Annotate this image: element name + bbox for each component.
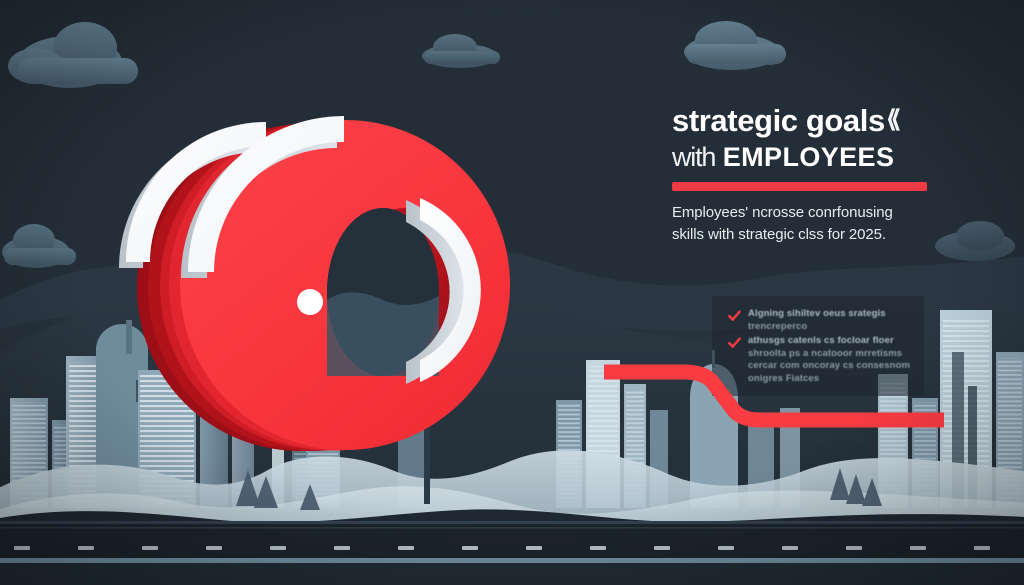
bullet-2-line-2: shroolta ps a ncatooor mrretisms	[748, 348, 910, 361]
bullet-1-line-2: trencreperco	[748, 321, 886, 334]
vignette	[0, 0, 1024, 585]
road-layer	[0, 0, 1024, 585]
bullet-2-line-1: athusgs catenls cs focloar floer	[748, 335, 894, 346]
headline-block: strategic goals⟪ with EMPLOYEES Employee…	[672, 104, 940, 246]
headline-subtitle: with EMPLOYEES	[672, 142, 940, 173]
list-item: Algning sihiltev oeus srategis trencrepe…	[728, 308, 918, 333]
chevron-up-arrow-icon: ⟪	[886, 103, 901, 137]
subcopy-line-1: Employees' ncrosse conrfonusing	[672, 202, 940, 224]
checkmark-icon	[728, 310, 741, 323]
page-title: strategic goals⟪	[672, 104, 940, 141]
list-item: athusgs catenls cs focloar floer shroolt…	[728, 335, 918, 385]
headline-line2-thin: with	[672, 142, 715, 172]
list-item-text: Algning sihiltev oeus srategis trencrepe…	[748, 308, 886, 333]
bullet-1-line-1: Algning sihiltev oeus srategis	[748, 308, 886, 319]
subcopy-block: Employees' ncrosse conrfonusing skills w…	[672, 202, 940, 246]
red-divider-rule	[672, 182, 927, 191]
headline-line2-bold: EMPLOYEES	[723, 142, 895, 172]
subcopy-line-2: skills with strategic clss for 2025.	[672, 224, 940, 246]
bullet-2-line-3: cercar com oncoray cs consesnom	[748, 360, 910, 373]
checkmark-icon	[728, 337, 741, 350]
infographic-canvas: strategic goals⟪ with EMPLOYEES Employee…	[0, 0, 1024, 585]
bullet-2-line-4: onigres Fiatces	[748, 373, 910, 386]
headline-line1-text: strategic goals	[672, 103, 885, 138]
list-item-text: athusgs catenls cs focloar floer shroolt…	[748, 335, 910, 385]
bullet-list: Algning sihiltev oeus srategis trencrepe…	[728, 308, 918, 388]
